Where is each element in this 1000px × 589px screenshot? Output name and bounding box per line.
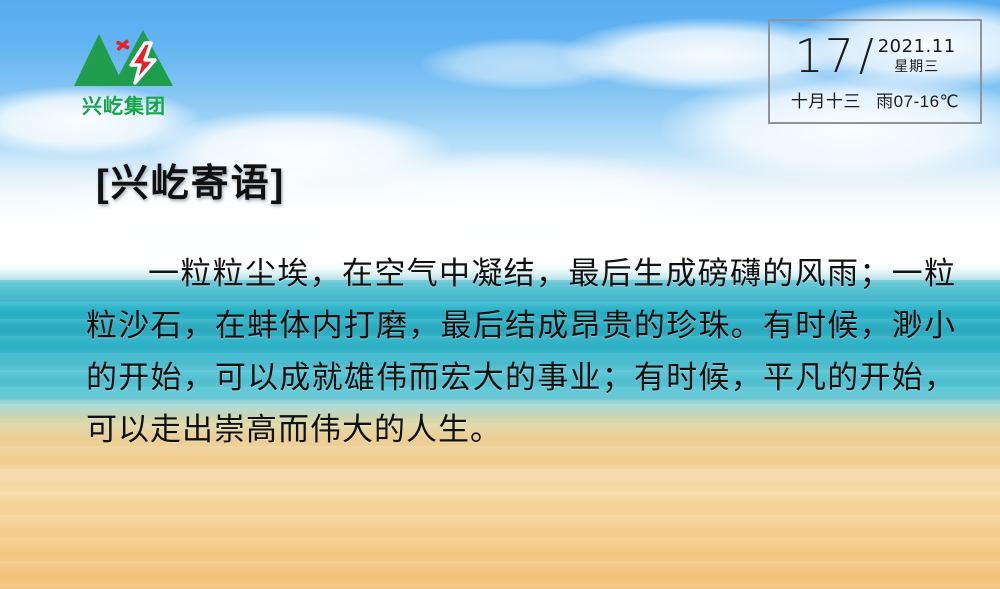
page-title: [兴屹寄语] [96,152,285,207]
date-day: 17 [794,33,855,79]
weather-info: 雨07-16℃ [876,92,959,111]
red-x-icon [115,39,130,52]
date-weekday: 星期三 [894,58,939,75]
date-year-month: 2021.11 [878,37,956,58]
poster-canvas: 兴屹集团 17 / 2021.11 星期三 十月十三 雨07-16℃ [兴屹寄语… [0,0,1000,589]
mountain-lightning-icon [72,28,176,90]
message-paragraph: 一粒粒尘埃，在空气中凝结，最后生成磅礴的风雨；一粒粒沙石，在蚌体内打磨，最后结成… [86,248,956,456]
date-card-bottom-row: 十月十三 雨07-16℃ [770,87,980,112]
cloud-shape [420,38,630,90]
lunar-date: 十月十三 [791,92,861,111]
date-separator: / [859,34,874,78]
brand-logo-text: 兴屹集团 [72,90,176,119]
brand-logo[interactable]: 兴屹集团 [72,28,182,118]
date-card-right: 2021.11 星期三 [878,37,956,74]
cloud-shape [300,150,720,250]
date-card: 17 / 2021.11 星期三 十月十三 雨07-16℃ [768,19,982,124]
date-card-top-row: 17 / 2021.11 星期三 [770,27,980,85]
